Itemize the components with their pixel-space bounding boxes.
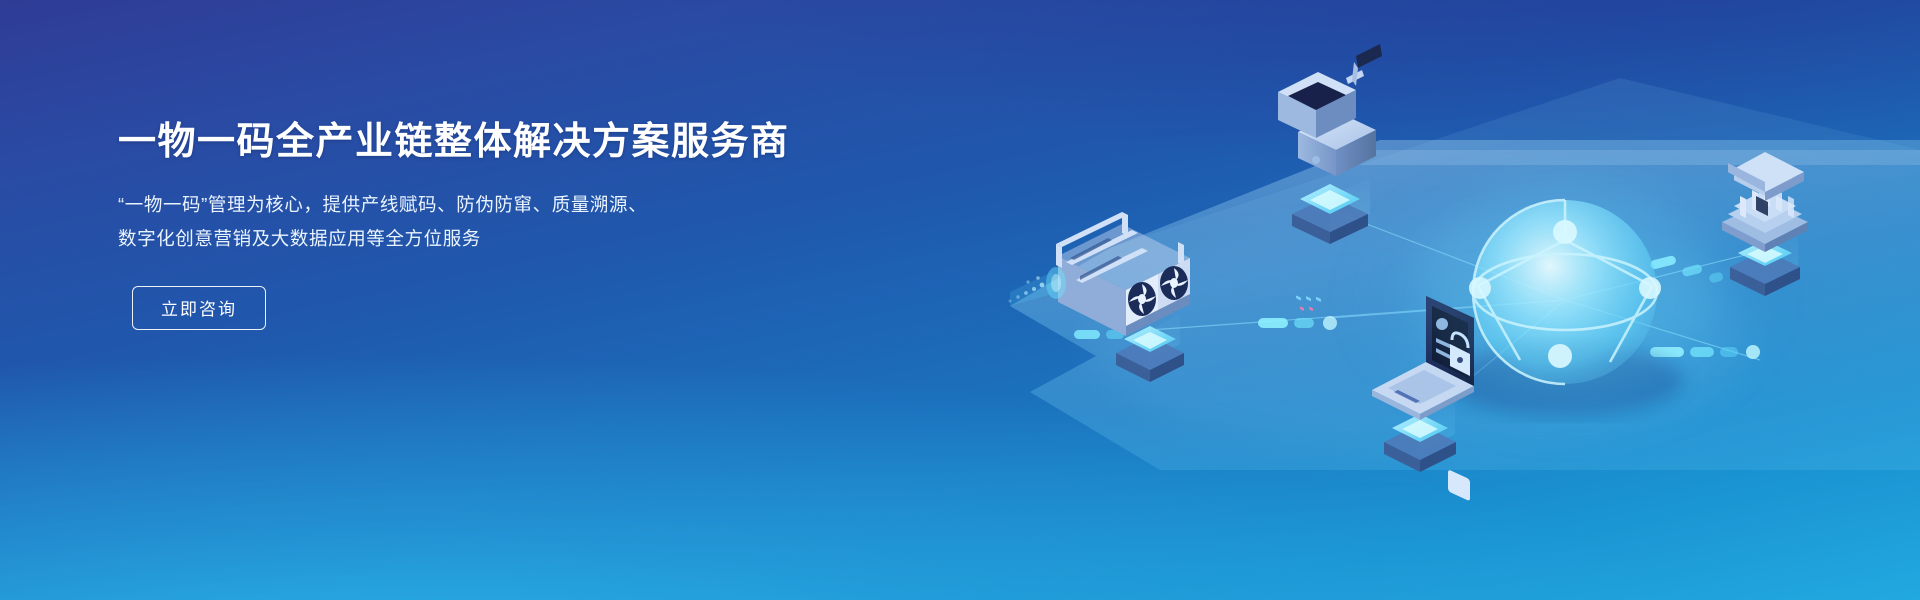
isometric-illustration — [860, 0, 1920, 600]
subtitle-line-2: 数字化创意营销及大数据应用等全方位服务 — [118, 222, 878, 256]
subtitle-line-1: “一物一码”管理为核心，提供产线赋码、防伪防窜、质量溯源、 — [118, 188, 878, 222]
hero-banner: 一物一码全产业链整体解决方案服务商 “一物一码”管理为核心，提供产线赋码、防伪防… — [0, 0, 1920, 600]
page-title: 一物一码全产业链整体解决方案服务商 — [118, 120, 878, 166]
hero-subtitle: “一物一码”管理为核心，提供产线赋码、防伪防窜、质量溯源、 数字化创意营销及大数… — [118, 188, 878, 256]
hero-copy: 一物一码全产业链整体解决方案服务商 “一物一码”管理为核心，提供产线赋码、防伪防… — [118, 120, 878, 330]
consult-now-button[interactable]: 立即咨询 — [132, 286, 266, 330]
bank-building-node — [1722, 152, 1808, 296]
